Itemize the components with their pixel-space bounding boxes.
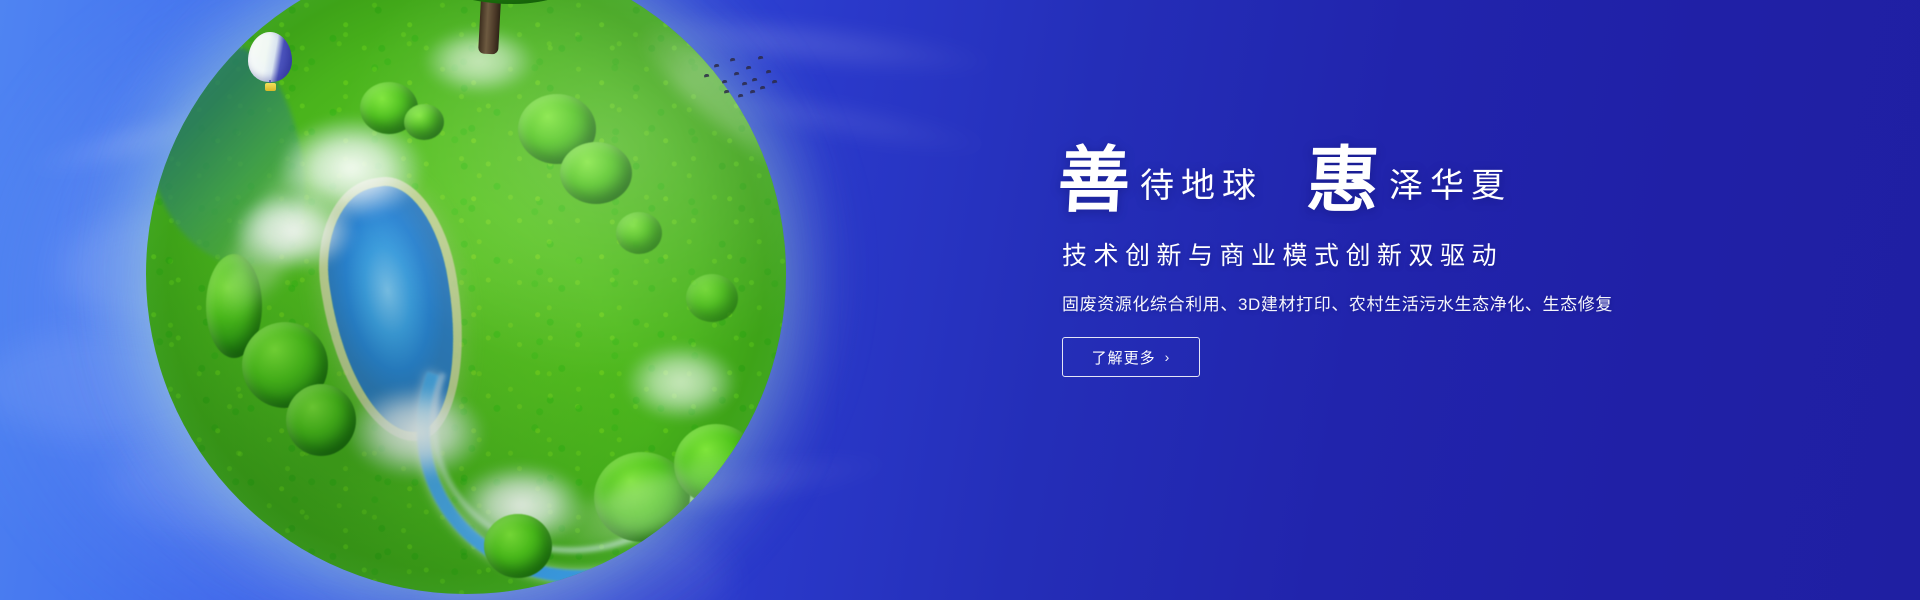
- learn-more-button[interactable]: 了解更多 ›: [1062, 337, 1200, 377]
- service-tagline: 固废资源化综合利用、3D建材打印、农村生活污水生态净化、生态修复: [1062, 290, 1758, 315]
- green-planet: [146, 0, 786, 594]
- planet-shading: [146, 0, 786, 594]
- headline-lead-char-1: 善: [1056, 144, 1132, 216]
- hero-copy: 善 待地球 惠 泽华夏 技术创新与商业模式创新双驱动 固废资源化综合利用、3D建…: [1058, 140, 1758, 377]
- headline-rest-1: 待地球: [1140, 169, 1263, 203]
- hero-banner: 善 待地球 惠 泽华夏 技术创新与商业模式创新双驱动 固废资源化综合利用、3D建…: [0, 0, 1920, 600]
- hot-air-balloon: [248, 32, 292, 90]
- learn-more-label: 了解更多: [1092, 347, 1156, 368]
- flock-of-birds: [700, 52, 780, 100]
- balloon-basket: [265, 83, 276, 91]
- headline: 善 待地球 惠 泽华夏: [1058, 140, 1758, 212]
- headline-group-2: 惠 泽华夏: [1307, 140, 1512, 212]
- planet-sphere: [146, 0, 786, 594]
- headline-rest-2: 泽华夏: [1389, 169, 1512, 203]
- chevron-right-icon: ›: [1165, 350, 1171, 364]
- headline-lead-char-2: 惠: [1305, 144, 1381, 216]
- balloon-envelope: [248, 32, 292, 82]
- headline-group-1: 善 待地球: [1058, 140, 1263, 212]
- subheadline: 技术创新与商业模式创新双驱动: [1062, 236, 1758, 272]
